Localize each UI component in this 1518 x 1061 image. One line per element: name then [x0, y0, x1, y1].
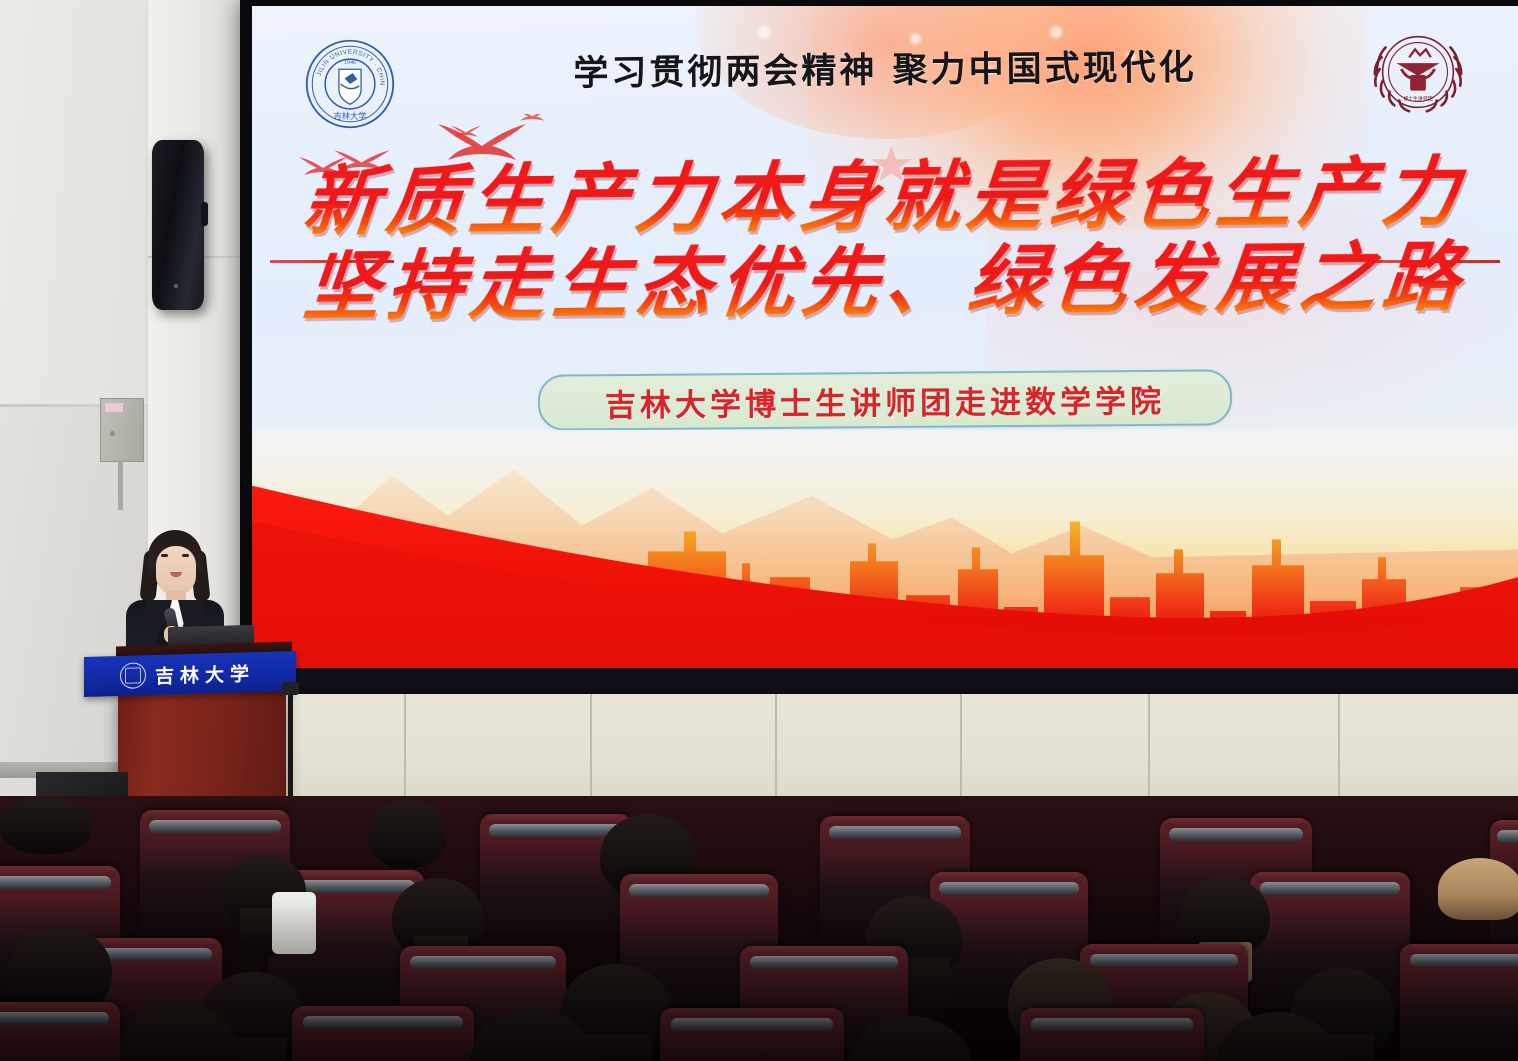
podium-seal-icon	[120, 662, 146, 689]
audience-seat	[1400, 944, 1518, 1061]
panel-label-sticker	[105, 403, 123, 412]
speaker-bracket	[201, 202, 208, 226]
city-skyline-graphic	[252, 430, 1518, 669]
slide-subtitle-text: 吉林大学博士生讲师团走进数学学院	[605, 375, 1165, 424]
slide-red-wave-graphic	[252, 430, 1518, 669]
audience-seat	[1020, 1008, 1204, 1061]
panel-screw-icon	[110, 431, 115, 436]
panel-conduit	[118, 460, 123, 510]
audience-section	[0, 796, 1518, 1061]
microphone-head-icon	[282, 682, 299, 695]
presenter-eye-right	[182, 554, 189, 557]
led-screen: 1946 JILIN UNIVERSITY · CHINA 吉林大学	[252, 6, 1518, 669]
slide-title-line-1: 新质生产力本身就是绿色生产力	[252, 148, 1518, 244]
audience-head	[368, 800, 446, 868]
audience-seat	[292, 1006, 474, 1061]
wall-electrical-panel	[100, 398, 144, 462]
bokeh-dot	[1050, 26, 1062, 38]
audience-seat	[0, 1002, 120, 1061]
audience-white-garment	[272, 892, 316, 954]
speaker-led-icon	[174, 284, 178, 288]
audience-head	[0, 796, 92, 854]
screenshot-root: 1946 JILIN UNIVERSITY · CHINA 吉林大学	[0, 0, 1518, 1061]
svg-text:博士生讲师团: 博士生讲师团	[1403, 95, 1432, 102]
podium-banner-text: 吉林大学	[155, 659, 255, 689]
audience-head-with-cap	[1438, 858, 1518, 920]
presenter-eye-left	[161, 554, 168, 557]
slide-title-block: 新质生产力本身就是绿色生产力 坚持走生态优先、绿色发展之路	[252, 148, 1518, 329]
slide-subtitle-box: 吉林大学博士生讲师团走进数学学院	[538, 369, 1232, 430]
podium-banner: 吉林大学	[84, 651, 296, 697]
audience-seat	[660, 1008, 844, 1061]
slide-title-line-2: 坚持走生态优先、绿色发展之路	[252, 234, 1518, 330]
wall-mounted-loudspeaker	[152, 140, 204, 310]
